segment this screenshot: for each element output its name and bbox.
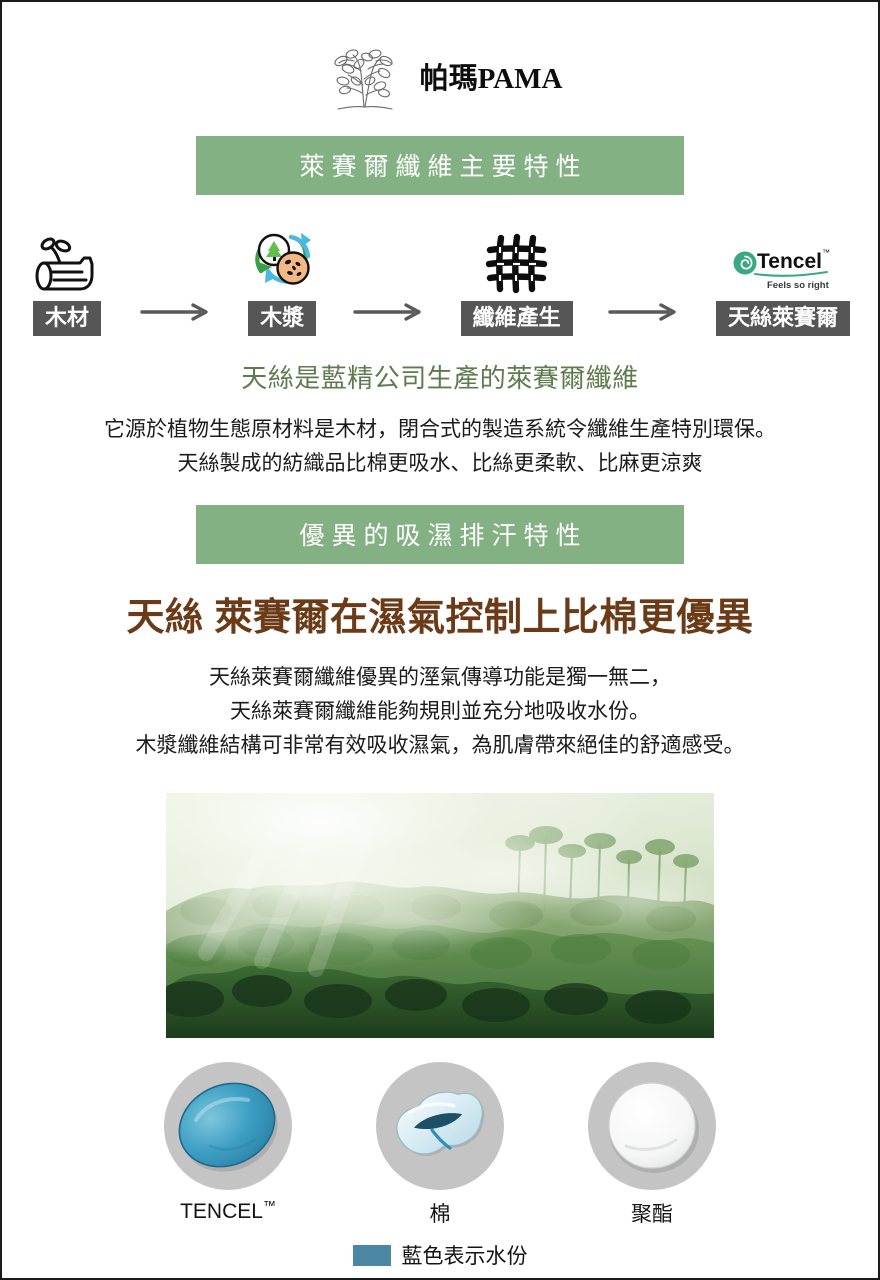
svg-text:™: ™ <box>822 248 830 257</box>
section-banner-features: 萊賽爾纖維主要特性 <box>196 136 684 195</box>
moisture-paragraph-line: 天絲萊賽爾纖維優異的溼氣傳導功能是獨一無二， <box>2 661 878 695</box>
tencel-fiber-cross-section <box>158 1060 298 1192</box>
intro-subtitle: 天絲是藍精公司生產的萊賽爾纖維 <box>2 358 878 395</box>
tree-line-art-icon <box>318 37 414 115</box>
right-arrow-icon <box>608 302 680 322</box>
legend-color-swatch <box>353 1245 391 1266</box>
svg-text:Tencel: Tencel <box>757 250 822 273</box>
trademark-symbol: ™ <box>263 1198 276 1213</box>
moisture-paragraph-line: 天絲萊賽爾纖維能夠規則並充分地吸收水份。 <box>2 695 878 729</box>
cotton-fiber-cross-section <box>370 1060 510 1192</box>
intro-paragraph: 它源於植物生態原材料是木材，閉合式的製造系統令纖維生產特別環保。 天絲製成的紡織… <box>2 413 878 481</box>
section-banner-moisture: 優異的吸濕排汗特性 <box>196 505 684 564</box>
moisture-paragraph-line: 木漿纖維結構可非常有效吸收濕氣，為肌膚帶來絕佳的舒適感受。 <box>2 729 878 763</box>
wood-log-icon <box>30 221 104 295</box>
brand-logo: 帕瑪PAMA <box>2 30 878 122</box>
production-flow-diagram: 木材 <box>30 221 850 336</box>
sample-label-polyester: 聚酯 <box>582 1198 722 1228</box>
moisture-legend: 藍色表示水份 <box>2 1240 878 1270</box>
flow-label-fiber: 纖維產生 <box>461 301 573 336</box>
moisture-paragraph: 天絲萊賽爾纖維優異的溼氣傳導功能是獨一無二， 天絲萊賽爾纖維能夠規則並充分地吸收… <box>2 661 878 763</box>
intro-paragraph-line: 天絲製成的紡織品比棉更吸水、比絲更柔軟、比麻更涼爽 <box>2 447 878 481</box>
flow-label-wood: 木材 <box>33 301 101 336</box>
sample-label-tencel: TENCEL™ <box>158 1198 298 1224</box>
brand-name: 帕瑪PAMA <box>420 55 563 97</box>
flow-label-pulp: 木漿 <box>248 301 316 336</box>
flow-step-pulp: 木漿 <box>247 221 317 336</box>
intro-paragraph-line: 它源於植物生態原材料是木材，閉合式的製造系統令纖維生產特別環保。 <box>2 413 878 447</box>
tencel-logo-icon: Tencel ™ Feels so right <box>729 221 837 295</box>
sample-cotton: 棉 <box>370 1060 510 1228</box>
polyester-fiber-cross-section <box>582 1060 722 1192</box>
flow-step-tencel: Tencel ™ Feels so right 天絲萊賽爾 <box>716 221 850 336</box>
sample-polyester: 聚酯 <box>582 1060 722 1228</box>
infographic-page: 帕瑪PAMA 萊賽爾纖維主要特性 木材 <box>0 0 880 1280</box>
misty-forest-canopy-photo <box>166 793 714 1038</box>
fiber-comparison-samples: TENCEL™ 棉 <box>2 1060 878 1228</box>
moisture-headline: 天絲 萊賽爾在濕氣控制上比棉更優異 <box>2 586 878 641</box>
right-arrow-icon <box>353 302 425 322</box>
sample-tencel: TENCEL™ <box>158 1060 298 1228</box>
svg-text:Feels so right: Feels so right <box>767 280 830 291</box>
right-arrow-icon <box>140 302 212 322</box>
legend-label: 藍色表示水份 <box>402 1240 528 1270</box>
flow-label-tencel: 天絲萊賽爾 <box>716 301 850 336</box>
flow-step-wood: 木材 <box>30 221 104 336</box>
sample-label-cotton: 棉 <box>370 1198 510 1228</box>
recycling-pulp-icon <box>247 221 317 295</box>
woven-fiber-icon <box>484 221 550 295</box>
flow-step-fiber: 纖維產生 <box>461 221 573 336</box>
